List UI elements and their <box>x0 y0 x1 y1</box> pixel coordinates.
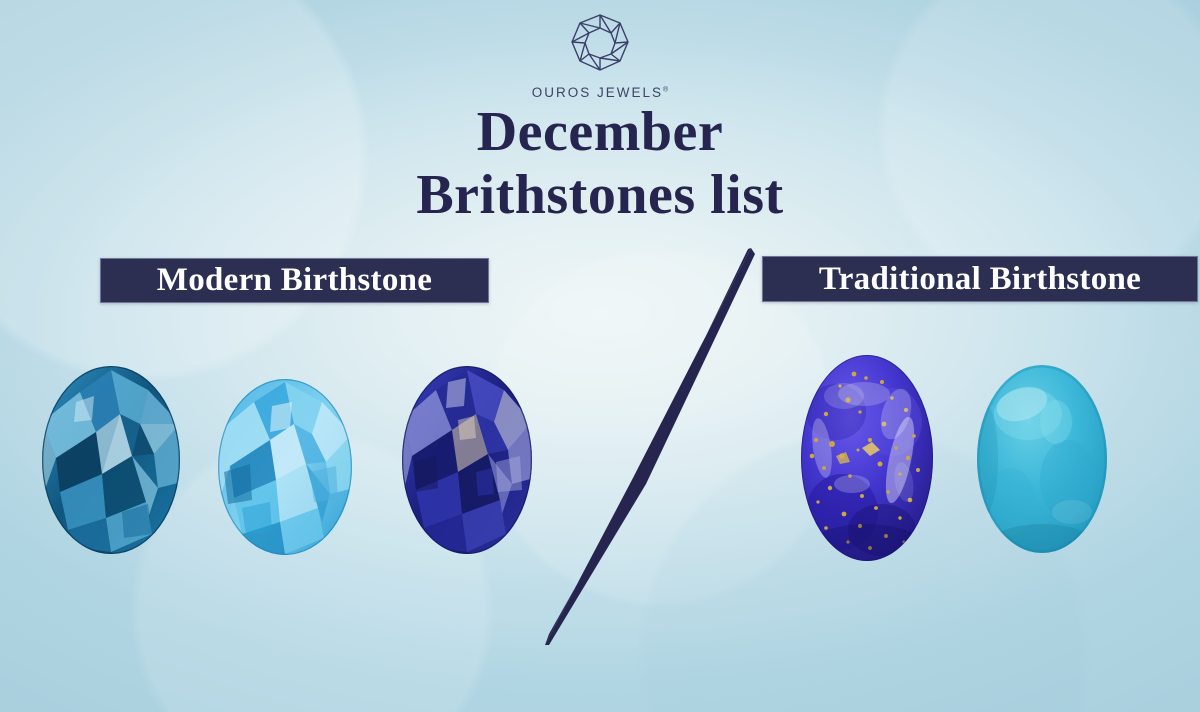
section-banner-traditional-label: Traditional Birthstone <box>819 263 1141 296</box>
brand-wordmark-text: OUROS JEWELS <box>532 85 663 100</box>
page-title-line-1: December <box>0 101 1200 164</box>
registered-trademark-icon: ® <box>663 87 668 94</box>
infographic-canvas: OUROS JEWELS® December Brithstones list … <box>0 0 1200 712</box>
gem-turquoise-image <box>972 362 1112 561</box>
gem-blue-zircon-image <box>36 362 186 563</box>
brand-wordmark: OUROS JEWELS® <box>532 85 668 100</box>
gem-tanzanite-image <box>396 362 538 563</box>
gem-lapis-lazuli-image <box>796 352 938 569</box>
gem-blue-topaz-image <box>212 376 358 563</box>
brand-logo: OUROS JEWELS® <box>0 10 1200 100</box>
section-banner-traditional: Traditional Birthstone <box>762 256 1198 302</box>
page-title-line-2: Brithstones list <box>0 164 1200 227</box>
page-title: December Brithstones list <box>0 101 1200 226</box>
section-banner-modern-label: Modern Birthstone <box>157 264 433 297</box>
diagonal-divider-line <box>500 230 800 670</box>
section-banner-modern: Modern Birthstone <box>100 258 489 303</box>
diamond-gem-outline-icon <box>564 10 636 83</box>
